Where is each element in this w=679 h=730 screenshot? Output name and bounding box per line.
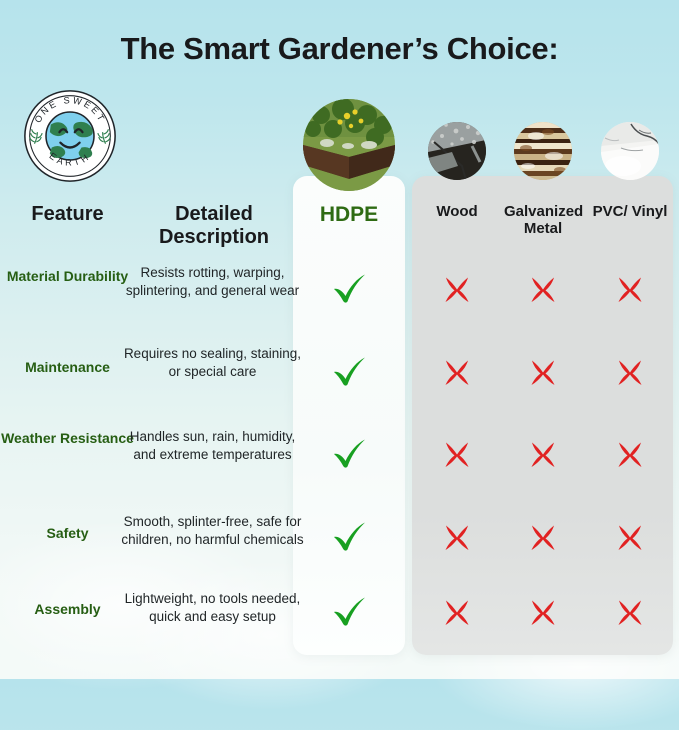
- feature-description: Requires no sealing, staining, or specia…: [120, 345, 305, 380]
- hdpe-garden-bed-photo: [303, 99, 395, 191]
- header-column-hdpe: HDPE: [293, 203, 405, 227]
- cross-icon-pvc: [610, 516, 650, 556]
- rotting-wood-photo: [428, 122, 486, 180]
- cross-icon-pvc: [610, 591, 650, 631]
- one-sweet-earth-logo: ONE SWEET EARTH: [22, 88, 118, 184]
- feature-label: Maintenance: [0, 359, 135, 376]
- cross-icon-wood: [437, 591, 477, 631]
- cross-icon-metal: [523, 591, 563, 631]
- header-feature: Feature: [0, 203, 135, 226]
- check-icon-hdpe: [329, 591, 369, 631]
- rusted-metal-photo: [514, 122, 572, 180]
- check-icon-hdpe: [329, 516, 369, 556]
- cross-icon-wood: [437, 351, 477, 391]
- cross-icon-metal: [523, 351, 563, 391]
- check-icon-hdpe: [329, 351, 369, 391]
- cross-icon-metal: [523, 516, 563, 556]
- cross-icon-metal: [523, 268, 563, 308]
- check-icon-hdpe: [329, 433, 369, 473]
- header-column-pvc: PVC/ Vinyl: [591, 203, 669, 220]
- header-column-metal: Galvanized Metal: [504, 203, 582, 238]
- feature-label: Material Durability: [0, 268, 135, 285]
- page-title: The Smart Gardener’s Choice:: [0, 31, 679, 67]
- cross-icon-wood: [437, 268, 477, 308]
- feature-description: Smooth, splinter-free, safe for children…: [120, 513, 305, 548]
- cross-icon-wood: [437, 433, 477, 473]
- header-description: Detailed Description: [135, 203, 293, 249]
- header-column-wood: Wood: [418, 203, 496, 220]
- feature-label: Weather Resistance: [0, 430, 135, 447]
- check-icon-hdpe: [329, 268, 369, 308]
- cross-icon-pvc: [610, 351, 650, 391]
- feature-label: Safety: [0, 525, 135, 542]
- cross-icon-metal: [523, 433, 563, 473]
- hdpe-column-panel: [293, 176, 405, 655]
- cross-icon-wood: [437, 516, 477, 556]
- feature-label: Assembly: [0, 601, 135, 618]
- cross-icon-pvc: [610, 268, 650, 308]
- competitors-column-panel: [412, 176, 673, 655]
- feature-description: Lightweight, no tools needed, quick and …: [120, 590, 305, 625]
- feature-description: Resists rotting, warping, splintering, a…: [120, 264, 305, 299]
- cross-icon-pvc: [610, 433, 650, 473]
- feature-description: Handles sun, rain, humidity, and extreme…: [120, 428, 305, 463]
- cracked-white-pvc-photo: [601, 122, 659, 180]
